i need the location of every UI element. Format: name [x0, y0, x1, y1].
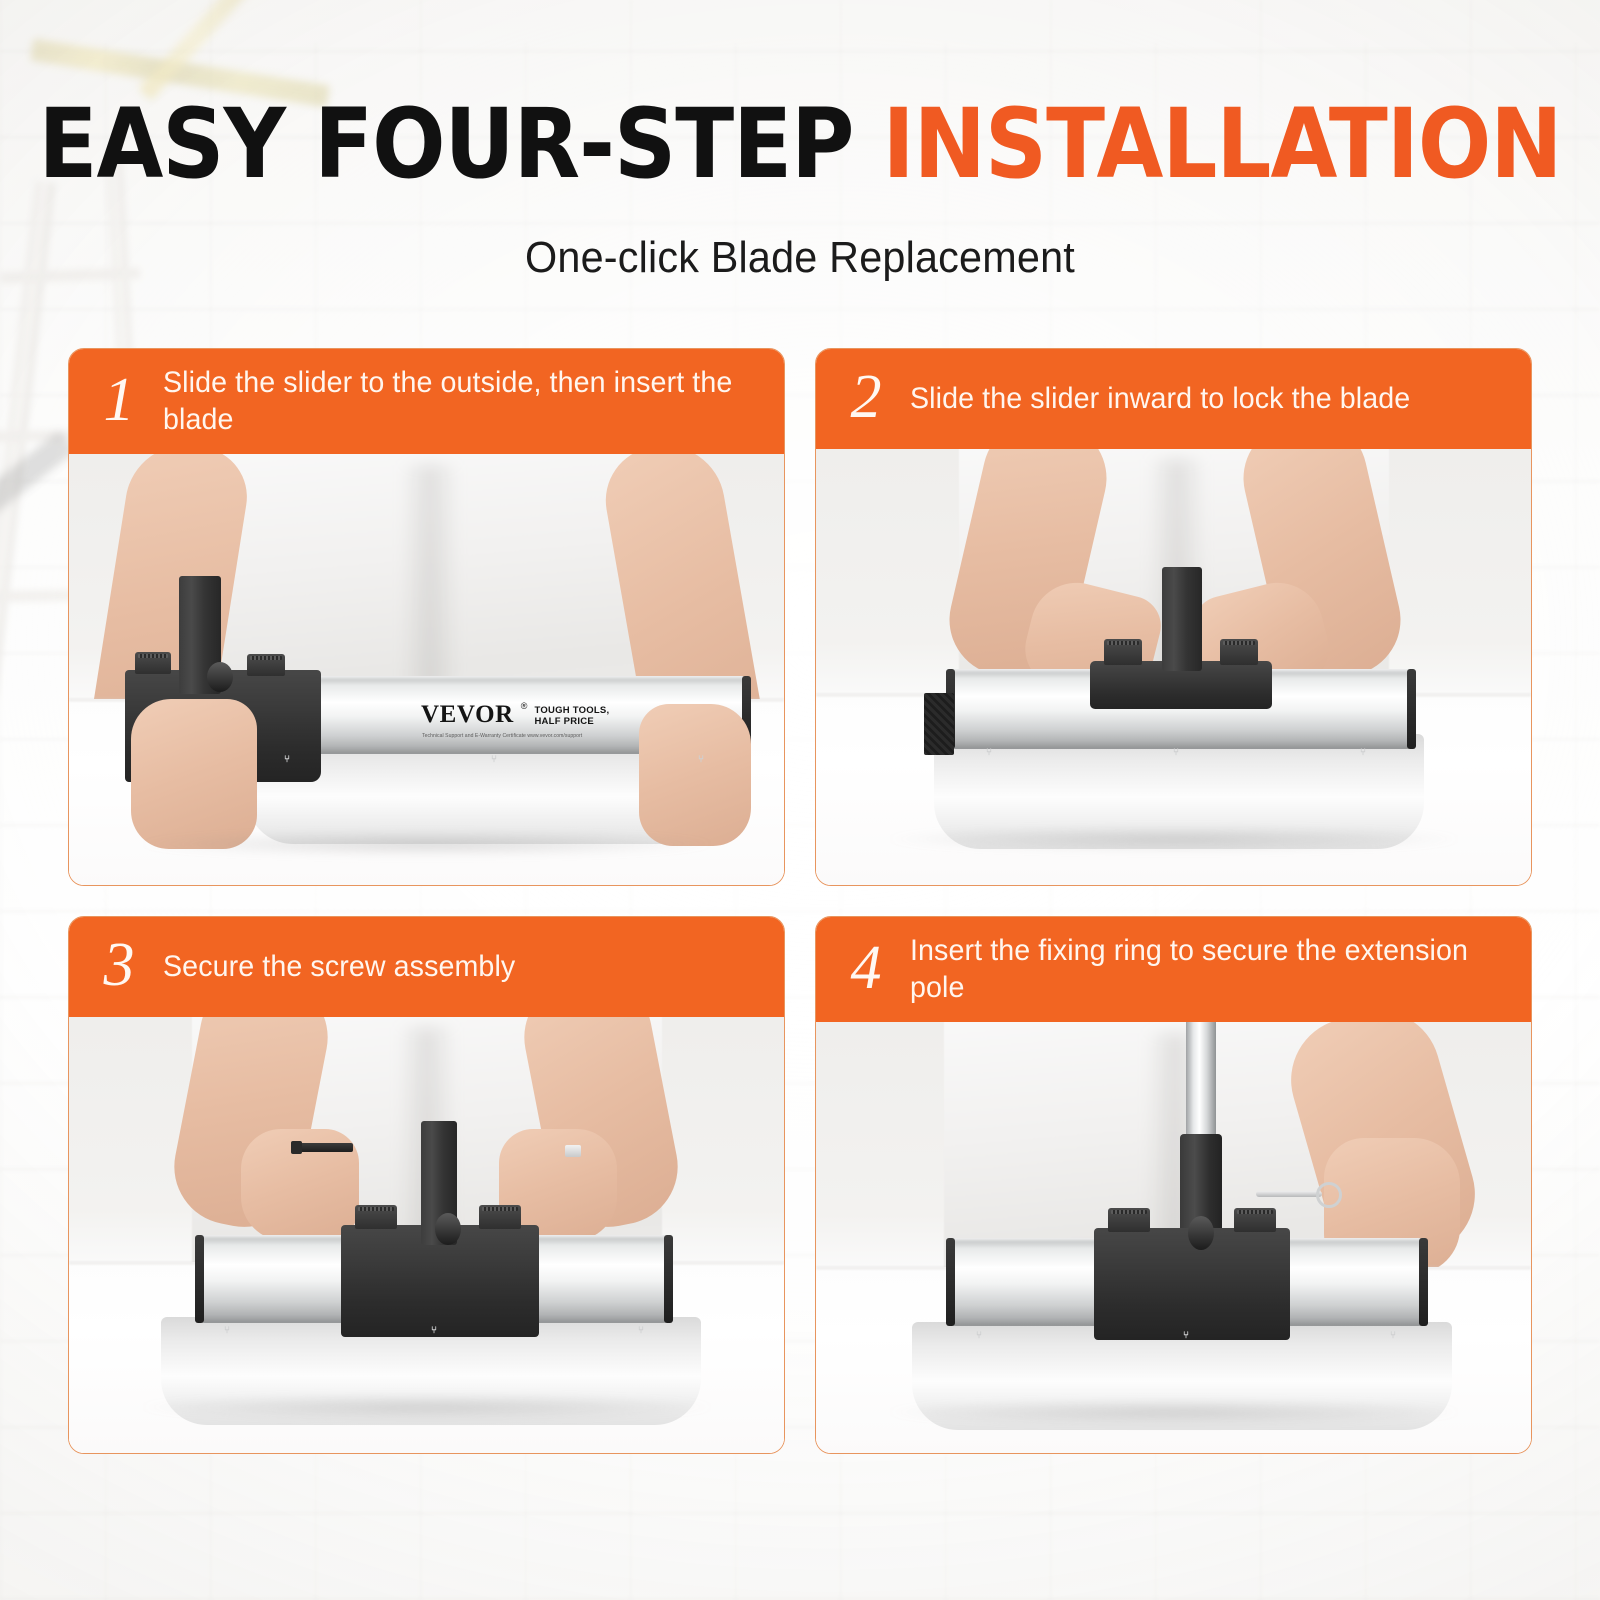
step-header-2: 2 Slide the slider inward to lock the bl…: [816, 349, 1531, 449]
step-text-4: Insert the fixing ring to secure the ext…: [910, 933, 1491, 1006]
step-header-3: 3 Secure the screw assembly: [69, 917, 784, 1017]
step-text-2: Slide the slider inward to lock the blad…: [910, 381, 1410, 418]
slider-tab-right: [247, 654, 285, 676]
registered-mark: ®: [521, 702, 528, 711]
page-title-primary: EASY FOUR-STEP: [38, 88, 882, 200]
blade-rivet-marks: ⑂⑂⑂: [284, 754, 704, 765]
hinge-pivot: [207, 662, 233, 692]
slider-tab-left: [1104, 639, 1142, 665]
slider-tab-right: [1234, 1208, 1276, 1232]
step-card-3: 3 Secure the screw assembly: [68, 916, 785, 1454]
vevor-tagline-1: TOUGH TOOLS,: [534, 705, 609, 716]
step-photo-2: ⑂⑂⑂: [816, 449, 1531, 886]
step-header-1: 1 Slide the slider to the outside, then …: [69, 349, 784, 454]
screw-part: [291, 1143, 353, 1152]
hinge-pivot: [435, 1213, 461, 1245]
hinge-pivot: [1188, 1216, 1214, 1250]
vevor-wordmark: VEVOR: [421, 702, 514, 727]
slider-tab-left: [1108, 1208, 1150, 1232]
slider-tab-left: [135, 652, 171, 674]
steps-grid: 1 Slide the slider to the outside, then …: [68, 348, 1532, 1484]
blade-rivet-marks: ⑂⑂⑂: [976, 1330, 1396, 1341]
page-title-accent: INSTALLATION: [882, 88, 1561, 200]
vevor-tagline-2: HALF PRICE: [534, 716, 594, 727]
wrist-strap: [924, 693, 954, 755]
extension-pole: [1186, 1022, 1216, 1146]
infographic-page: EASY FOUR-STEP INSTALLATION One-click Bl…: [0, 0, 1600, 1600]
left-hand: [131, 699, 257, 849]
step-photo-1: VEVOR ® TOUGH TOOLS, HALF PRICE Technica…: [69, 454, 784, 886]
step-header-4: 4 Insert the fixing ring to secure the e…: [816, 917, 1531, 1022]
slider-tab-right: [479, 1205, 521, 1229]
step-number-2: 2: [838, 366, 894, 432]
blade-rivet-marks: ⑂⑂⑂: [224, 1325, 644, 1336]
step-number-3: 3: [91, 934, 147, 1000]
slider-tab-right: [1220, 639, 1258, 665]
step-card-2: 2 Slide the slider inward to lock the bl…: [815, 348, 1532, 886]
page-subtitle: One-click Blade Replacement: [48, 233, 1552, 283]
slider-tab-left: [355, 1205, 397, 1229]
vevor-fine-print: Technical Support and E-Warranty Certifi…: [422, 733, 582, 739]
page-title: EASY FOUR-STEP INSTALLATION: [0, 96, 1600, 192]
step-text-3: Secure the screw assembly: [163, 949, 515, 986]
vevor-logo: VEVOR ® TOUGH TOOLS, HALF PRICE: [421, 702, 609, 727]
fixing-nut-part: [565, 1145, 581, 1157]
step-card-4: 4 Insert the fixing ring to secure the e…: [815, 916, 1532, 1454]
right-hand: [639, 704, 751, 846]
pole-socket-fin: [1162, 567, 1202, 671]
blade-rivet-marks: ⑂⑂⑂: [986, 747, 1366, 758]
fixing-ring-pin: [1256, 1182, 1346, 1208]
step-card-1: 1 Slide the slider to the outside, then …: [68, 348, 785, 886]
step-text-1: Slide the slider to the outside, then in…: [163, 365, 744, 438]
step-number-4: 4: [838, 937, 894, 1003]
step-photo-3: ⑂⑂⑂: [69, 1017, 784, 1454]
step-number-1: 1: [91, 369, 147, 435]
step-photo-4: ⑂⑂⑂: [816, 1022, 1531, 1454]
